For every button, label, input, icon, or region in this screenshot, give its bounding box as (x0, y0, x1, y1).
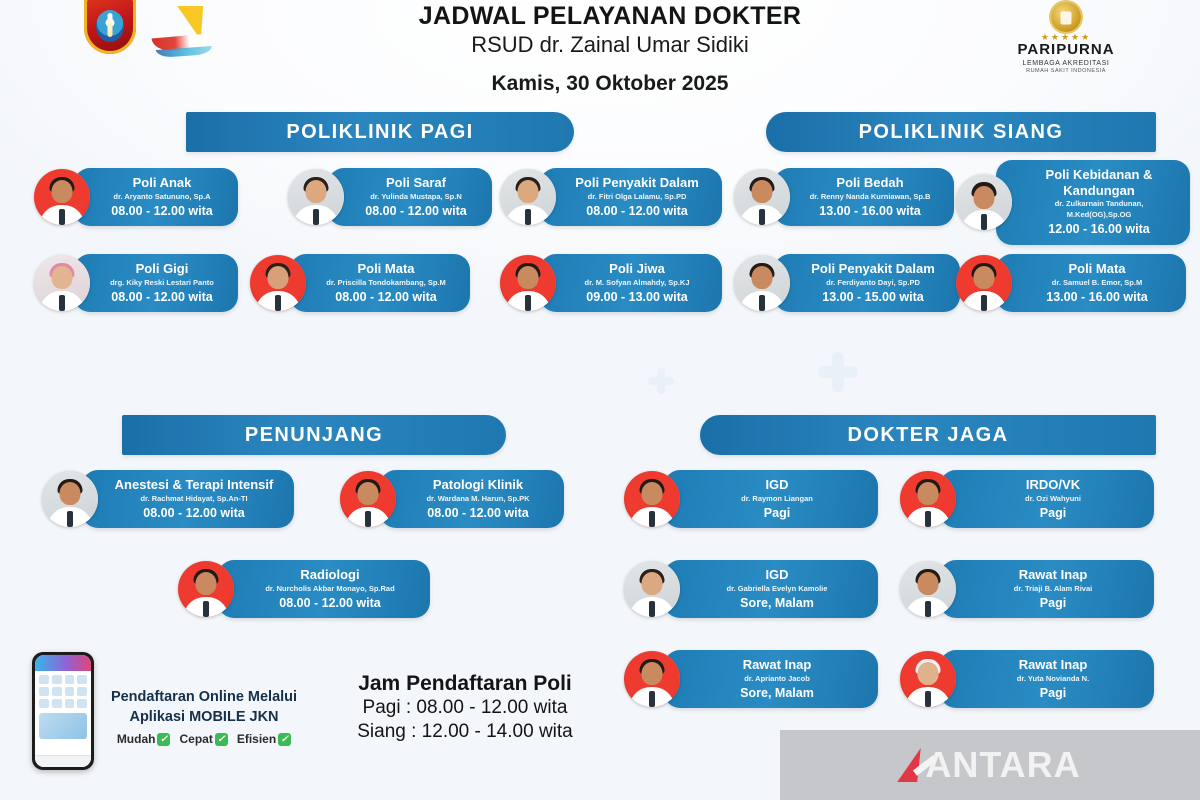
page-title: JADWAL PELAYANAN DOKTER (300, 0, 920, 31)
service-time: 08.00 - 12.00 wita (316, 289, 456, 305)
poli-name: Poli Saraf (354, 175, 478, 191)
service-time: Sore, Malam (690, 685, 864, 701)
doctor-card-pill[interactable]: Rawat Inapdr. Yuta Novianda N.Pagi (940, 650, 1154, 708)
service-time: 13.00 - 15.00 wita (800, 289, 946, 305)
service-time: 09.00 - 13.00 wita (566, 289, 708, 305)
doctor-avatar (900, 561, 956, 617)
service-time: 08.00 - 12.00 wita (100, 203, 224, 219)
doctor-avatar (42, 471, 98, 527)
benefit-2: Cepat✓ (179, 732, 227, 746)
doctor-card-poliklinik-siang-4[interactable]: Poli Matadr. Samuel B. Emor, Sp.M13.00 -… (956, 254, 1186, 312)
doctor-name: dr. Wardana M. Harun, Sp.PK (406, 494, 550, 504)
doctor-card-pill[interactable]: Poli Matadr. Priscilla Tondokambang, Sp.… (290, 254, 470, 312)
doctor-name: dr. Ferdiyanto Dayi, Sp.PD (800, 278, 946, 288)
doctor-card-poliklinik-siang-1[interactable]: Poli Bedahdr. Renny Nanda Kurniawan, Sp.… (734, 168, 954, 226)
title-block: JADWAL PELAYANAN DOKTER RSUD dr. Zainal … (300, 0, 920, 96)
doctor-card-pill[interactable]: Poli Anakdr. Aryanto Satununo, Sp.A08.00… (74, 168, 238, 226)
service-time: Pagi (966, 505, 1140, 521)
doctor-avatar (288, 169, 344, 225)
doctor-name: dr. Samuel B. Emor, Sp.M (1022, 278, 1172, 288)
poli-name: Patologi Klinik (406, 477, 550, 493)
doctor-card-poliklinik-pagi-3[interactable]: Poli Penyakit Dalamdr. Fitri Olga Lalamu… (500, 168, 722, 226)
doctor-card-pill[interactable]: Poli Gigidrg. Kiky Reski Lestari Panto08… (74, 254, 238, 312)
doctor-card-pill[interactable]: Poli Penyakit Dalamdr. Ferdiyanto Dayi, … (774, 254, 960, 312)
poli-name: Poli Anak (100, 175, 224, 191)
banner-poliklinik-pagi-label: POLIKLINIK PAGI (286, 121, 473, 144)
doctor-card-pill[interactable]: Poli Penyakit Dalamdr. Fitri Olga Lalamu… (540, 168, 722, 226)
service-time: 13.00 - 16.00 wita (800, 203, 940, 219)
banner-poliklinik-siang-label: POLIKLINIK SIANG (859, 121, 1064, 144)
service-time: 08.00 - 12.00 wita (108, 505, 280, 521)
accreditation-level: PARIPURNA (992, 42, 1140, 59)
doctor-card-pill[interactable]: Anestesi & Terapi Intensifdr. Rachmat Hi… (82, 470, 294, 528)
banner-penunjang-label: PENUNJANG (245, 424, 383, 447)
check-icon: ✓ (278, 733, 291, 746)
service-time: 12.00 - 16.00 wita (1022, 221, 1176, 237)
poli-name: Rawat Inap (966, 567, 1140, 583)
doctor-name: dr. Raymon Liangan (690, 494, 864, 504)
poli-name: Anestesi & Terapi Intensif (108, 477, 280, 493)
service-time: 08.00 - 12.00 wita (406, 505, 550, 521)
schedule-date: Kamis, 30 Oktober 2025 (300, 72, 920, 96)
poli-name: Radiologi (244, 567, 416, 583)
poli-name: IGD (690, 567, 864, 583)
watermark: ANTARA (780, 730, 1200, 800)
doctor-avatar (624, 471, 680, 527)
doctor-name: dr. Nurcholis Akbar Monayo, Sp.Rad (244, 584, 416, 594)
doctor-name: dr. Zulkarnain Tandunan, (1022, 199, 1176, 209)
poli-name: Poli Gigi (100, 261, 224, 277)
doctor-card-pill[interactable]: IGDdr. Raymon LianganPagi (664, 470, 878, 528)
accreditation-badge: ★★★★★ PARIPURNA LEMBAGA AKREDITASI RUMAH… (992, 2, 1140, 74)
doctor-name: dr. Aryanto Satununo, Sp.A (100, 192, 224, 202)
registration-benefits: Mudah✓Cepat✓Efisien✓ (104, 732, 304, 746)
poli-name: Poli Jiwa (566, 261, 708, 277)
doctor-name: dr. Yulinda Mustapa, Sp.N (354, 192, 478, 202)
watermark-label: ANTARA (925, 744, 1080, 786)
doctor-avatar (250, 255, 306, 311)
doctor-card-poliklinik-pagi-1[interactable]: Poli Anakdr. Aryanto Satununo, Sp.A08.00… (34, 168, 238, 226)
poli-name: Poli Kebidanan & Kandungan (1022, 167, 1176, 198)
banner-dokter-jaga: DOKTER JAGA (700, 415, 1156, 455)
poli-name: Poli Penyakit Dalam (566, 175, 708, 191)
antara-logo-icon (898, 748, 922, 782)
doctor-card-dokter-jaga-6[interactable]: Rawat Inapdr. Yuta Novianda N.Pagi (900, 650, 1154, 708)
doctor-name: dr. Aprianto Jacob (690, 674, 864, 684)
poli-name: Poli Penyakit Dalam (800, 261, 946, 277)
mobile-jkn-phone-illustration (32, 652, 94, 770)
registration-hours: Jam Pendaftaran Poli Pagi : 08.00 - 12.0… (300, 672, 630, 745)
banner-dokter-jaga-label: DOKTER JAGA (848, 424, 1009, 447)
registration-line-1: Pendaftaran Online Melalui (104, 688, 304, 708)
accreditation-org: LEMBAGA AKREDITASI (992, 59, 1140, 68)
doctor-name: dr. Fitri Olga Lalamu, Sp.PD (566, 192, 708, 202)
doctor-avatar (900, 651, 956, 707)
logo-kabupaten-icon (84, 0, 140, 58)
doctor-avatar (340, 471, 396, 527)
doctor-card-pill[interactable]: IGDdr. Gabriella Evelyn KamolieSore, Mal… (664, 560, 878, 618)
poli-name: Poli Mata (1022, 261, 1172, 277)
doctor-avatar (624, 651, 680, 707)
doctor-card-pill[interactable]: Patologi Klinikdr. Wardana M. Harun, Sp.… (380, 470, 564, 528)
banner-penunjang: PENUNJANG (122, 415, 506, 455)
registration-hours-title: Jam Pendaftaran Poli (300, 672, 630, 696)
service-time: 08.00 - 12.00 wita (100, 289, 224, 305)
poli-name: IGD (690, 477, 864, 493)
doctor-avatar (956, 255, 1012, 311)
service-time: 08.00 - 12.00 wita (566, 203, 708, 219)
medal-icon (1051, 2, 1081, 32)
doctor-card-pill[interactable]: IRDO/VKdr. Ozi WahyuniPagi (940, 470, 1154, 528)
hospital-name: RSUD dr. Zainal Umar Sidiki (300, 32, 920, 58)
benefit-1: Mudah✓ (117, 732, 171, 746)
check-icon: ✓ (157, 733, 170, 746)
doctor-avatar (734, 255, 790, 311)
doctor-avatar (734, 169, 790, 225)
service-time: Sore, Malam (690, 595, 864, 611)
doctor-card-dokter-jaga-2[interactable]: IRDO/VKdr. Ozi WahyuniPagi (900, 470, 1154, 528)
doctor-card-poliklinik-pagi-2[interactable]: Poli Sarafdr. Yulinda Mustapa, Sp.N08.00… (288, 168, 492, 226)
doctor-name: dr. Gabriella Evelyn Kamolie (690, 584, 864, 594)
doctor-card-poliklinik-pagi-6[interactable]: Poli Jiwadr. M. Sofyan Almahdy, Sp.KJ09.… (500, 254, 722, 312)
doctor-name: dr. Ozi Wahyuni (966, 494, 1140, 504)
banner-poliklinik-pagi: POLIKLINIK PAGI (186, 112, 574, 152)
doctor-card-pill[interactable]: Radiologidr. Nurcholis Akbar Monayo, Sp.… (218, 560, 430, 618)
service-time: Pagi (966, 595, 1140, 611)
logo-rsud-icon (146, 6, 218, 58)
poli-name: Rawat Inap (966, 657, 1140, 673)
doctor-card-pill[interactable]: Poli Sarafdr. Yulinda Mustapa, Sp.N08.00… (328, 168, 492, 226)
doctor-name: drg. Kiky Reski Lestari Panto (100, 278, 224, 288)
banner-poliklinik-siang: POLIKLINIK SIANG (766, 112, 1156, 152)
doctor-card-pill[interactable]: Poli Kebidanan & Kandungandr. Zulkarnain… (996, 160, 1190, 245)
doctor-name: dr. Renny Nanda Kurniawan, Sp.B (800, 192, 940, 202)
poli-name: IRDO/VK (966, 477, 1140, 493)
registration-hours-siang: Siang : 12.00 - 14.00 wita (300, 720, 630, 744)
doctor-card-poliklinik-pagi-5[interactable]: Poli Matadr. Priscilla Tondokambang, Sp.… (250, 254, 470, 312)
doctor-card-poliklinik-siang-2[interactable]: Poli Kebidanan & Kandungandr. Zulkarnain… (956, 160, 1190, 245)
poli-name: Poli Mata (316, 261, 456, 277)
service-time: 13.00 - 16.00 wita (1022, 289, 1172, 305)
service-time: 08.00 - 12.00 wita (354, 203, 478, 219)
doctor-card-dokter-jaga-1[interactable]: IGDdr. Raymon LianganPagi (624, 470, 878, 528)
service-time: 08.00 - 12.00 wita (244, 595, 416, 611)
doctor-card-pill[interactable]: Poli Jiwadr. M. Sofyan Almahdy, Sp.KJ09.… (540, 254, 722, 312)
registration-hours-pagi: Pagi : 08.00 - 12.00 wita (300, 696, 630, 720)
doctor-card-poliklinik-siang-3[interactable]: Poli Penyakit Dalamdr. Ferdiyanto Dayi, … (734, 254, 960, 312)
doctor-name-2: M.Ked(OG),Sp.OG (1022, 210, 1176, 220)
doctor-avatar (900, 471, 956, 527)
doctor-name: dr. Rachmat Hidayat, Sp.An-TI (108, 494, 280, 504)
check-icon: ✓ (215, 733, 228, 746)
poli-name: Rawat Inap (690, 657, 864, 673)
benefit-3: Efisien✓ (237, 732, 291, 746)
doctor-avatar (500, 169, 556, 225)
doctor-avatar (500, 255, 556, 311)
doctor-avatar (624, 561, 680, 617)
service-time: Pagi (690, 505, 864, 521)
doctor-card-pill[interactable]: Rawat Inapdr. Triaji B. Alam RivaiPagi (940, 560, 1154, 618)
doctor-avatar (34, 169, 90, 225)
registration-line-2: Aplikasi MOBILE JKN (104, 708, 304, 728)
accreditation-org-sub: RUMAH SAKIT INDONESIA (992, 68, 1140, 74)
doctor-card-penunjang-2[interactable]: Patologi Klinikdr. Wardana M. Harun, Sp.… (340, 470, 564, 528)
doctor-card-dokter-jaga-4[interactable]: Rawat Inapdr. Triaji B. Alam RivaiPagi (900, 560, 1154, 618)
doctor-name: dr. Yuta Novianda N. (966, 674, 1140, 684)
doctor-avatar (34, 255, 90, 311)
doctor-card-penunjang-3[interactable]: Radiologidr. Nurcholis Akbar Monayo, Sp.… (178, 560, 430, 618)
registration-info: Pendaftaran Online Melalui Aplikasi MOBI… (104, 688, 304, 746)
header: JADWAL PELAYANAN DOKTER RSUD dr. Zainal … (0, 0, 1200, 100)
poli-name: Poli Bedah (800, 175, 940, 191)
doctor-card-penunjang-1[interactable]: Anestesi & Terapi Intensifdr. Rachmat Hi… (42, 470, 294, 528)
doctor-avatar (178, 561, 234, 617)
doctor-card-pill[interactable]: Rawat Inapdr. Aprianto JacobSore, Malam (664, 650, 878, 708)
doctor-name: dr. Priscilla Tondokambang, Sp.M (316, 278, 456, 288)
doctor-avatar (956, 174, 1012, 230)
doctor-card-poliklinik-pagi-4[interactable]: Poli Gigidrg. Kiky Reski Lestari Panto08… (34, 254, 238, 312)
doctor-card-pill[interactable]: Poli Bedahdr. Renny Nanda Kurniawan, Sp.… (774, 168, 954, 226)
doctor-name: dr. M. Sofyan Almahdy, Sp.KJ (566, 278, 708, 288)
service-time: Pagi (966, 685, 1140, 701)
doctor-card-pill[interactable]: Poli Matadr. Samuel B. Emor, Sp.M13.00 -… (996, 254, 1186, 312)
doctor-card-dokter-jaga-5[interactable]: Rawat Inapdr. Aprianto JacobSore, Malam (624, 650, 878, 708)
doctor-name: dr. Triaji B. Alam Rivai (966, 584, 1140, 594)
poster-root: JADWAL PELAYANAN DOKTER RSUD dr. Zainal … (0, 0, 1200, 800)
doctor-card-dokter-jaga-3[interactable]: IGDdr. Gabriella Evelyn KamolieSore, Mal… (624, 560, 878, 618)
